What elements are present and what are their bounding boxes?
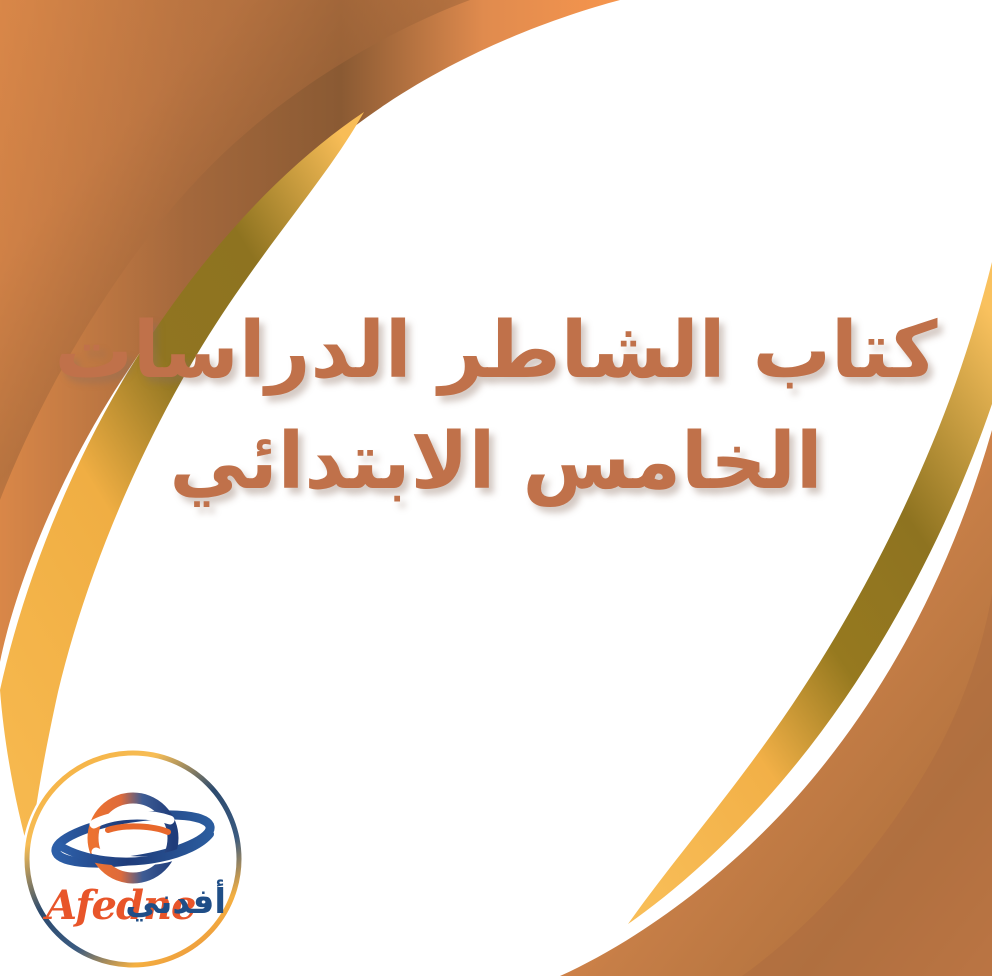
saturn-planet-icon <box>50 786 216 890</box>
title-line-1: كتاب الشاطر الدراسات <box>0 296 992 407</box>
title-line-2: الخامس الابتدائي <box>0 407 992 518</box>
afedne-logo[interactable]: Afedne أفدني <box>22 748 244 970</box>
logo-wordmark: Afedne أفدني <box>22 880 244 942</box>
cover-title: كتاب الشاطر الدراسات الخامس الابتدائي <box>0 296 992 518</box>
book-cover: كتاب الشاطر الدراسات الخامس الابتدائي Af… <box>0 0 992 976</box>
logo-arabic-wordmark: أفدني <box>125 882 226 923</box>
bottom-right-orange-swoosh-shade <box>742 594 992 976</box>
